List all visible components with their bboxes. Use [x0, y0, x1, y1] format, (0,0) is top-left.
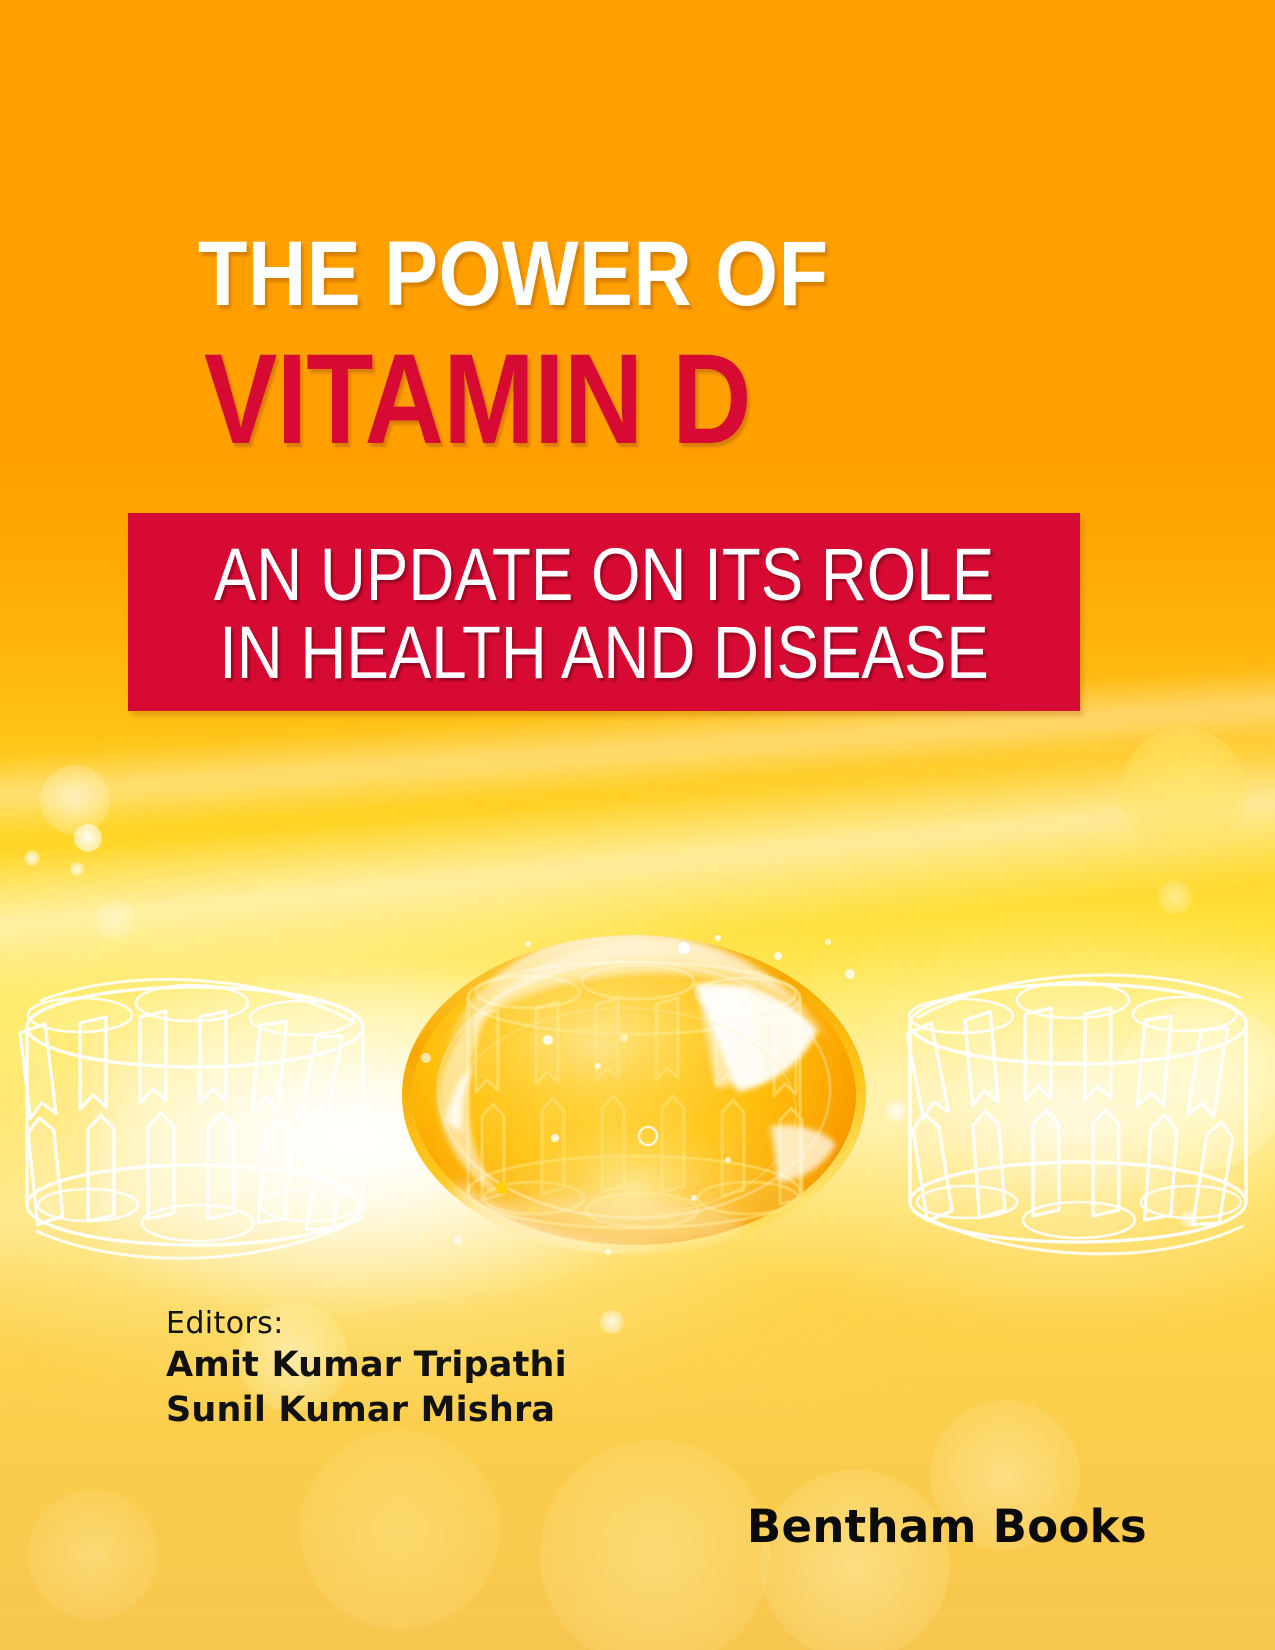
- bokeh-circle: [70, 862, 84, 876]
- editors-block: Editors: Amit Kumar Tripathi Sunil Kumar…: [166, 1305, 567, 1433]
- bokeh-circle: [885, 1100, 907, 1122]
- bokeh-circle: [1120, 728, 1248, 856]
- bokeh-circle: [1180, 1210, 1198, 1228]
- bokeh-circle: [40, 765, 110, 835]
- bokeh-circle: [1158, 880, 1192, 914]
- editor-name: Sunil Kumar Mishra: [166, 1388, 567, 1433]
- bokeh-circle: [74, 824, 102, 852]
- editors-label: Editors:: [166, 1305, 567, 1343]
- bokeh-circle: [760, 1470, 950, 1650]
- bokeh-circle: [1118, 1000, 1275, 1170]
- editor-name: Amit Kumar Tripathi: [166, 1343, 567, 1388]
- bokeh-circle: [28, 1490, 158, 1620]
- vitamin-d-softgel-capsule-icon: [398, 930, 870, 1260]
- subtitle-banner: AN UPDATE ON ITS ROLE IN HEALTH AND DISE…: [128, 513, 1080, 711]
- publisher-name: Bentham Books: [747, 1502, 1147, 1552]
- page-title-line-1: THE POWER OF: [198, 228, 828, 320]
- bokeh-circle: [24, 850, 40, 866]
- bokeh-circle: [600, 1310, 624, 1334]
- bokeh-circle: [540, 1440, 770, 1650]
- dna-double-helix-icon-left: [0, 905, 410, 1275]
- dna-double-helix-icon-right: [863, 900, 1275, 1275]
- subtitle-text: AN UPDATE ON ITS ROLE IN HEALTH AND DISE…: [195, 536, 1014, 692]
- page-title-line-2: VITAMIN D: [204, 336, 751, 464]
- bokeh-circle: [95, 900, 135, 940]
- book-cover: THE POWER OF VITAMIN D AN UPDATE ON ITS …: [0, 0, 1275, 1650]
- bokeh-circle: [300, 1430, 500, 1630]
